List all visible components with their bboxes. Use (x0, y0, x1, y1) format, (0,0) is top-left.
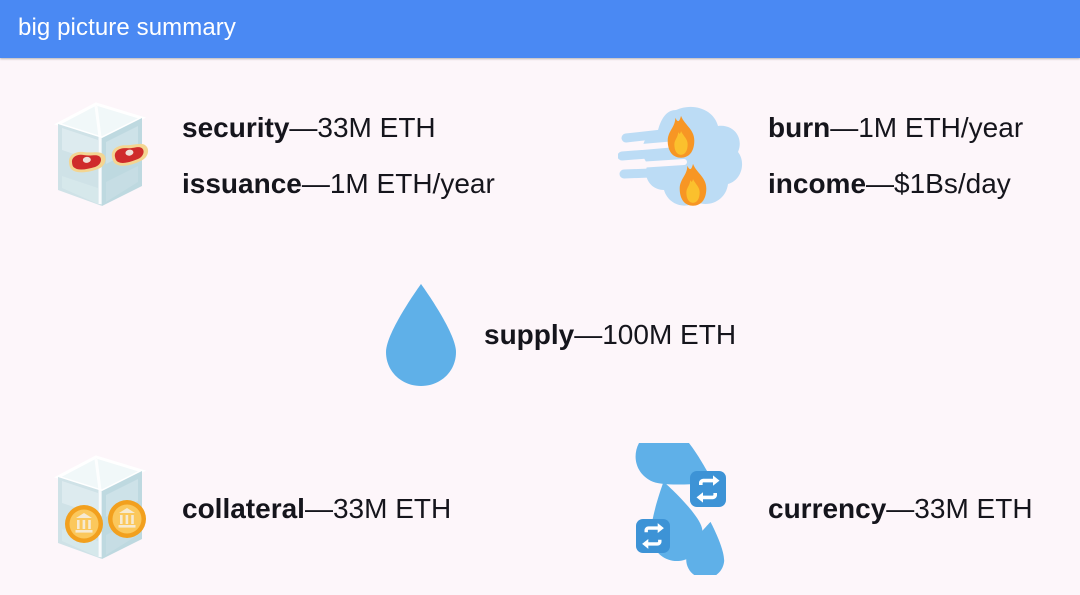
stat-label: security (182, 112, 289, 143)
stat-block-burn: burn—1M ETH/year income—$1Bs/day (618, 90, 1023, 222)
stat-label: currency (768, 493, 886, 524)
stat-block-currency: currency—33M ETH (618, 443, 1033, 575)
stat-line-supply: supply—100M ETH (484, 307, 736, 363)
stat-separator: — (289, 112, 317, 143)
stat-label: burn (768, 112, 830, 143)
stat-line-burn: burn—1M ETH/year (768, 100, 1023, 156)
slide-header-bar: big picture summary (0, 0, 1080, 58)
stat-line-security: security—33M ETH (182, 100, 495, 156)
stat-value: 1M ETH/year (858, 112, 1023, 143)
stat-separator: — (305, 493, 333, 524)
stat-label: supply (484, 319, 574, 350)
stat-label: income (768, 168, 866, 199)
stat-lines-security: security—33M ETH issuance—1M ETH/year (182, 100, 495, 212)
stat-lines-currency: currency—33M ETH (768, 481, 1033, 537)
stat-separator: — (574, 319, 602, 350)
stat-lines-supply: supply—100M ETH (484, 307, 736, 363)
page-title: big picture summary (18, 13, 236, 43)
stat-separator: — (886, 493, 914, 524)
stat-separator: — (830, 112, 858, 143)
stat-value: 33M ETH (317, 112, 435, 143)
stat-value: 33M ETH (333, 493, 451, 524)
stat-line-currency: currency—33M ETH (768, 481, 1033, 537)
stat-line-collateral: collateral—33M ETH (182, 481, 451, 537)
water-droplet-icon (378, 280, 464, 390)
stat-value: $1Bs/day (894, 168, 1011, 199)
stat-lines-burn: burn—1M ETH/year income—$1Bs/day (768, 100, 1023, 212)
stat-separator: — (866, 168, 894, 199)
stat-line-income: income—$1Bs/day (768, 156, 1023, 212)
droplets-with-repeat-icon (618, 443, 750, 575)
stat-block-collateral: collateral—33M ETH (32, 443, 451, 575)
stat-label: collateral (182, 493, 305, 524)
stat-block-supply: supply—100M ETH (378, 280, 736, 390)
stat-line-issuance: issuance—1M ETH/year (182, 156, 495, 212)
stat-value: 100M ETH (602, 319, 736, 350)
ice-cube-with-coins-icon (32, 443, 164, 575)
stat-block-security: security—33M ETH issuance—1M ETH/year (32, 90, 495, 222)
ice-cube-with-meat-icon (32, 90, 164, 222)
stat-separator: — (302, 168, 330, 199)
stat-value: 33M ETH (914, 493, 1032, 524)
stat-label: issuance (182, 168, 302, 199)
stat-value: 1M ETH/year (330, 168, 495, 199)
stat-lines-collateral: collateral—33M ETH (182, 481, 451, 537)
dashing-away-fire-icon (618, 90, 750, 222)
slide-content-area: security—33M ETH issuance—1M ETH/year (0, 58, 1080, 595)
